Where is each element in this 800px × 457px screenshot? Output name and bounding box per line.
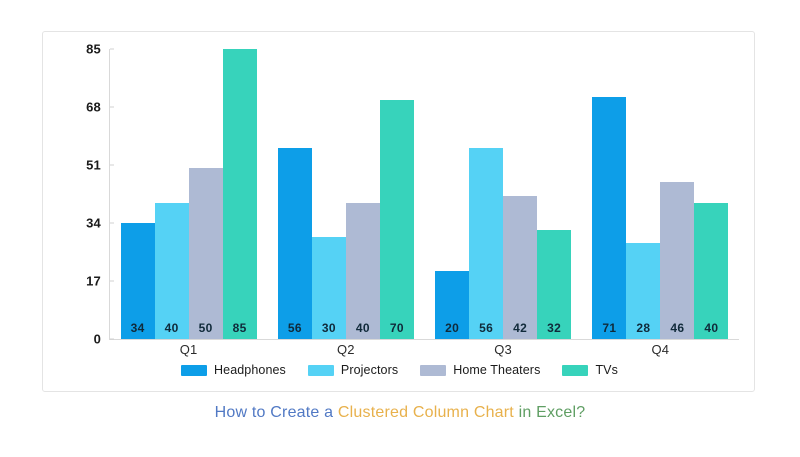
bar-home-theaters-q1[interactable]: 50 bbox=[189, 168, 223, 339]
legend-label: Projectors bbox=[341, 363, 398, 377]
bar-group-q4: 71284640 bbox=[592, 49, 728, 339]
bar-projectors-q1[interactable]: 40 bbox=[155, 203, 189, 339]
y-axis-tick-label: 17 bbox=[53, 274, 101, 289]
legend-item-projectors[interactable]: Projectors bbox=[308, 363, 398, 377]
legend-item-home-theaters[interactable]: Home Theaters bbox=[420, 363, 540, 377]
bar-value-label: 50 bbox=[189, 321, 223, 335]
bar-value-label: 46 bbox=[660, 321, 694, 335]
legend-swatch-icon bbox=[420, 365, 446, 376]
legend-item-tvs[interactable]: TVs bbox=[562, 363, 618, 377]
y-axis-tick-label: 0 bbox=[53, 332, 101, 347]
bar-value-label: 34 bbox=[121, 321, 155, 335]
bar-tvs-q1[interactable]: 85 bbox=[223, 49, 257, 339]
chart-card: 01734516885 3440508556304070205642327128… bbox=[42, 31, 755, 392]
y-axis-tick-label: 68 bbox=[53, 100, 101, 115]
bar-home-theaters-q2[interactable]: 40 bbox=[346, 203, 380, 339]
bar-slot: 56 bbox=[278, 49, 312, 339]
bar-slot: 30 bbox=[312, 49, 346, 339]
legend-swatch-icon bbox=[308, 365, 334, 376]
bar-value-label: 30 bbox=[312, 321, 346, 335]
bar-slot: 40 bbox=[346, 49, 380, 339]
bar-value-label: 56 bbox=[278, 321, 312, 335]
y-axis-tick-label: 85 bbox=[53, 42, 101, 57]
bar-slot: 85 bbox=[223, 49, 257, 339]
legend-label: Headphones bbox=[214, 363, 286, 377]
bar-value-label: 40 bbox=[694, 321, 728, 335]
bar-slot: 70 bbox=[380, 49, 414, 339]
bar-headphones-q4[interactable]: 71 bbox=[592, 97, 626, 339]
caption-part-3: in Excel? bbox=[514, 404, 585, 421]
y-axis-tick-label: 51 bbox=[53, 158, 101, 173]
x-axis-label-q3: Q3 bbox=[435, 342, 571, 357]
bar-headphones-q2[interactable]: 56 bbox=[278, 148, 312, 339]
bar-value-label: 20 bbox=[435, 321, 469, 335]
bar-slot: 56 bbox=[469, 49, 503, 339]
bar-slot: 20 bbox=[435, 49, 469, 339]
bar-headphones-q3[interactable]: 20 bbox=[435, 271, 469, 339]
x-axis-label-q1: Q1 bbox=[121, 342, 257, 357]
caption-part-2: Clustered Column Chart bbox=[338, 404, 514, 421]
plot-area: 01734516885 3440508556304070205642327128… bbox=[109, 49, 739, 339]
legend-item-headphones[interactable]: Headphones bbox=[181, 363, 286, 377]
legend-label: TVs bbox=[595, 363, 618, 377]
bar-slot: 71 bbox=[592, 49, 626, 339]
bar-home-theaters-q3[interactable]: 42 bbox=[503, 196, 537, 339]
bar-tvs-q4[interactable]: 40 bbox=[694, 203, 728, 339]
bar-slot: 32 bbox=[537, 49, 571, 339]
x-axis-category-labels: Q1Q2Q3Q4 bbox=[110, 342, 739, 364]
bar-slot: 40 bbox=[694, 49, 728, 339]
bar-slot: 46 bbox=[660, 49, 694, 339]
bar-projectors-q2[interactable]: 30 bbox=[312, 237, 346, 339]
bar-value-label: 85 bbox=[223, 321, 257, 335]
bar-slot: 42 bbox=[503, 49, 537, 339]
bar-home-theaters-q4[interactable]: 46 bbox=[660, 182, 694, 339]
bar-slot: 50 bbox=[189, 49, 223, 339]
chart-legend: HeadphonesProjectorsHome TheatersTVs bbox=[43, 363, 756, 377]
bar-tvs-q2[interactable]: 70 bbox=[380, 100, 414, 339]
legend-swatch-icon bbox=[562, 365, 588, 376]
caption-part-1: How to Create a bbox=[215, 404, 338, 421]
bar-value-label: 71 bbox=[592, 321, 626, 335]
bar-tvs-q3[interactable]: 32 bbox=[537, 230, 571, 339]
bar-value-label: 40 bbox=[155, 321, 189, 335]
x-axis-line bbox=[109, 339, 739, 340]
bar-projectors-q4[interactable]: 28 bbox=[626, 243, 660, 339]
x-axis-label-q2: Q2 bbox=[278, 342, 414, 357]
bar-value-label: 28 bbox=[626, 321, 660, 335]
bar-value-label: 70 bbox=[380, 321, 414, 335]
y-axis-tick-label: 34 bbox=[53, 216, 101, 231]
bar-slot: 40 bbox=[155, 49, 189, 339]
bar-headphones-q1[interactable]: 34 bbox=[121, 223, 155, 339]
bar-groups: 34405085563040702056423271284640 bbox=[110, 49, 739, 339]
legend-label: Home Theaters bbox=[453, 363, 540, 377]
bar-group-q3: 20564232 bbox=[435, 49, 571, 339]
caption: How to Create a Clustered Column Chart i… bbox=[0, 404, 800, 422]
bar-value-label: 56 bbox=[469, 321, 503, 335]
bar-slot: 28 bbox=[626, 49, 660, 339]
bar-value-label: 32 bbox=[537, 321, 571, 335]
bar-projectors-q3[interactable]: 56 bbox=[469, 148, 503, 339]
bar-slot: 34 bbox=[121, 49, 155, 339]
bar-group-q2: 56304070 bbox=[278, 49, 414, 339]
bar-value-label: 42 bbox=[503, 321, 537, 335]
x-axis-label-q4: Q4 bbox=[592, 342, 728, 357]
bar-group-q1: 34405085 bbox=[121, 49, 257, 339]
legend-swatch-icon bbox=[181, 365, 207, 376]
bar-value-label: 40 bbox=[346, 321, 380, 335]
